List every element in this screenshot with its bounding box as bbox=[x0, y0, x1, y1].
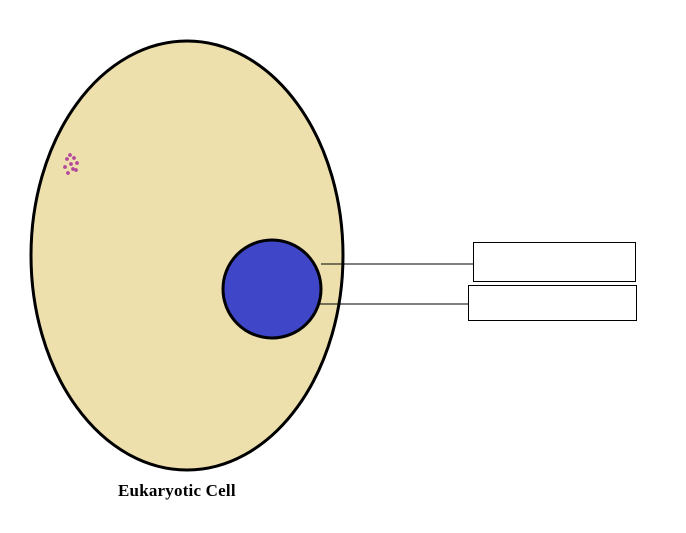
label-box-nucleus-upper[interactable] bbox=[473, 242, 636, 282]
nucleus-circle bbox=[223, 240, 321, 338]
diagram-caption: Eukaryotic Cell bbox=[118, 481, 236, 501]
granule-dot bbox=[69, 162, 73, 166]
granule-dot bbox=[65, 157, 69, 161]
granule-dot bbox=[66, 171, 70, 175]
cell-diagram: Eukaryotic Cell bbox=[0, 0, 686, 533]
granule-dot bbox=[68, 153, 72, 157]
granule-dot bbox=[74, 168, 78, 172]
granule-dot bbox=[72, 156, 76, 160]
granule-dot bbox=[63, 165, 67, 169]
granule-dot bbox=[75, 161, 79, 165]
label-box-nucleus-lower[interactable] bbox=[468, 285, 637, 321]
